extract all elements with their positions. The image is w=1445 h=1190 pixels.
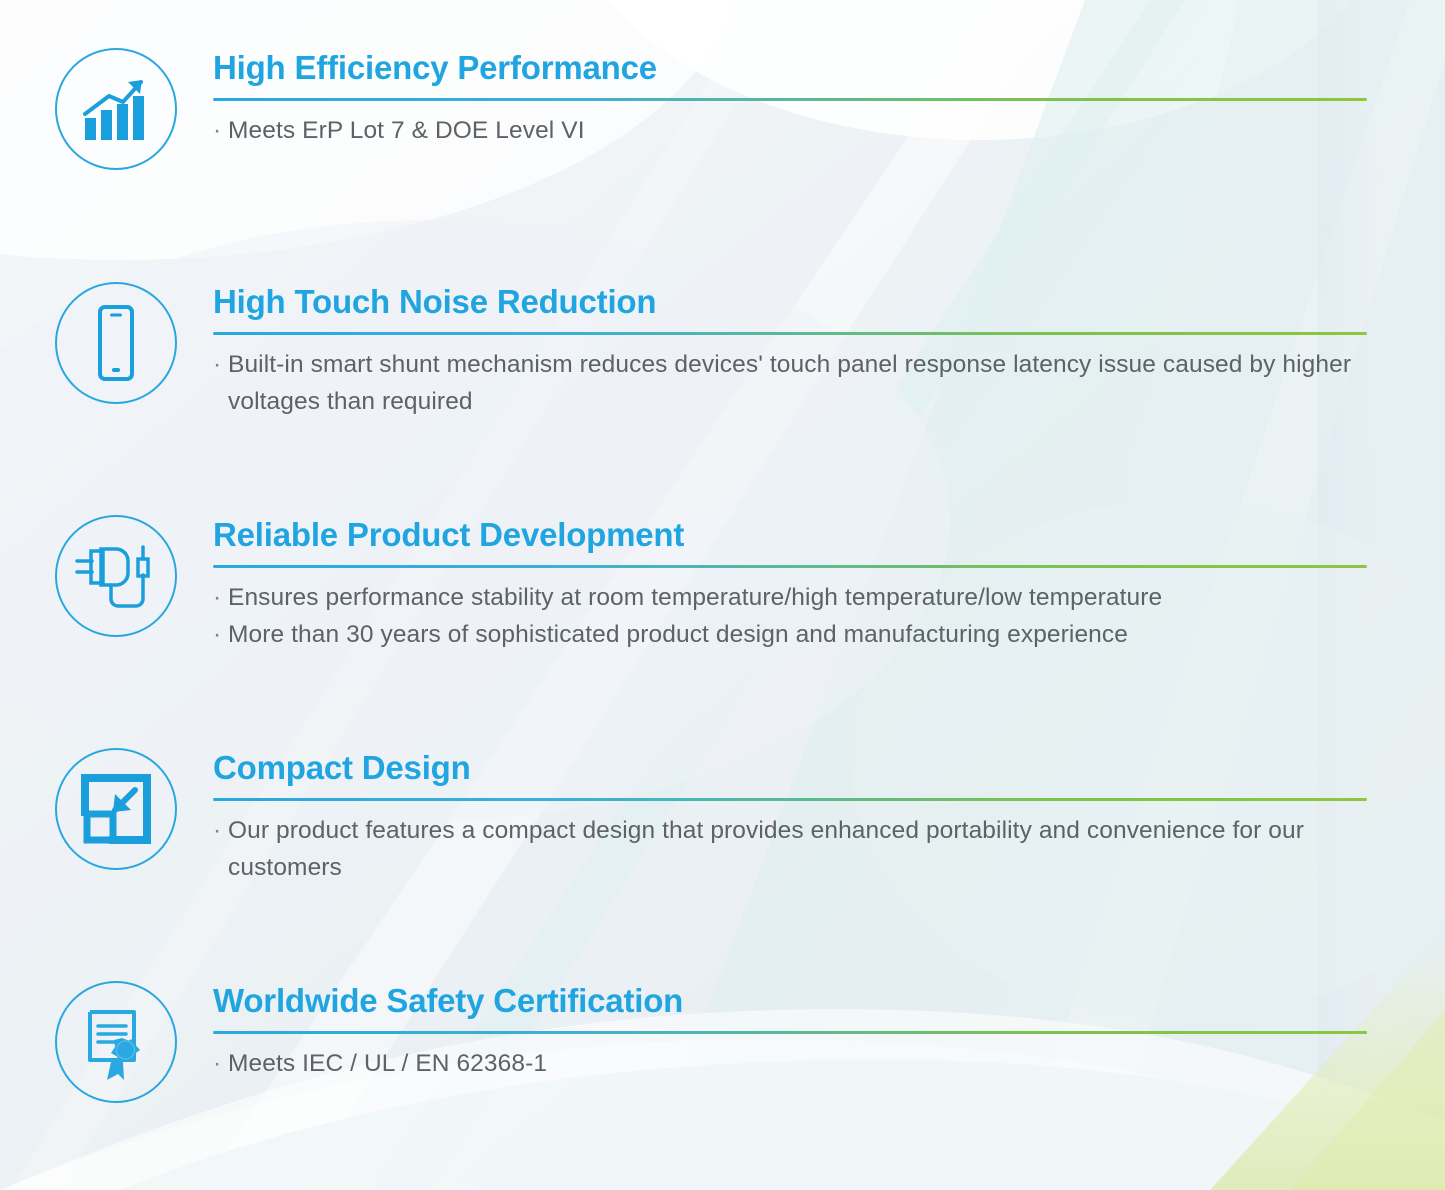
- bullet-text: Meets IEC / UL / EN 62368-1: [228, 1046, 1367, 1083]
- feature-bullets: · Meets ErP Lot 7 & DOE Level VI: [213, 111, 1367, 150]
- bullet-text: Built-in smart shunt mechanism reduces d…: [228, 347, 1367, 421]
- feature-item-high-touch-noise-reduction: High Touch Noise Reduction · Built-in sm…: [0, 280, 1445, 420]
- feature-bullets: · Our product features a compact design …: [213, 811, 1367, 887]
- feature-item-reliable-product-development: Reliable Product Development · Ensures p…: [0, 513, 1445, 653]
- bullet-item: · Meets ErP Lot 7 & DOE Level VI: [213, 113, 1367, 150]
- bullet-item: · More than 30 years of sophisticated pr…: [213, 617, 1367, 654]
- bullet-marker: ·: [213, 1046, 228, 1083]
- feature-title: High Efficiency Performance: [213, 50, 1367, 87]
- feature-icon-wrapper: [52, 46, 180, 170]
- power-adapter-icon: [55, 515, 177, 637]
- bullet-item: · Meets IEC / UL / EN 62368-1: [213, 1046, 1367, 1083]
- feature-bullets: · Built-in smart shunt mechanism reduces…: [213, 345, 1367, 421]
- feature-bullets: · Meets IEC / UL / EN 62368-1: [213, 1044, 1367, 1083]
- bullet-text: Ensures performance stability at room te…: [228, 580, 1367, 617]
- bullet-text: Meets ErP Lot 7 & DOE Level VI: [228, 113, 1367, 150]
- smartphone-icon: [55, 282, 177, 404]
- feature-list: High Efficiency Performance · Meets ErP …: [0, 0, 1445, 1190]
- feature-icon-wrapper: [52, 979, 180, 1103]
- feature-body: Reliable Product Development · Ensures p…: [180, 513, 1445, 653]
- bullet-marker: ·: [213, 617, 228, 654]
- bullet-item: · Our product features a compact design …: [213, 813, 1367, 887]
- feature-item-high-efficiency-performance: High Efficiency Performance · Meets ErP …: [0, 46, 1445, 170]
- feature-body: High Efficiency Performance · Meets ErP …: [180, 46, 1445, 150]
- bullet-marker: ·: [213, 113, 228, 150]
- feature-body: Compact Design · Our product features a …: [180, 746, 1445, 886]
- feature-bullets: · Ensures performance stability at room …: [213, 578, 1367, 654]
- feature-item-worldwide-safety-certification: Worldwide Safety Certification · Meets I…: [0, 979, 1445, 1103]
- feature-divider: [213, 565, 1367, 568]
- feature-divider: [213, 1031, 1367, 1034]
- feature-icon-wrapper: [52, 746, 180, 870]
- bullet-text: Our product features a compact design th…: [228, 813, 1367, 887]
- feature-title: Reliable Product Development: [213, 517, 1367, 554]
- bullet-marker: ·: [213, 580, 228, 617]
- feature-icon-wrapper: [52, 513, 180, 637]
- bullet-item: · Ensures performance stability at room …: [213, 580, 1367, 617]
- feature-body: High Touch Noise Reduction · Built-in sm…: [180, 280, 1445, 420]
- feature-title: High Touch Noise Reduction: [213, 284, 1367, 321]
- feature-body: Worldwide Safety Certification · Meets I…: [180, 979, 1445, 1083]
- feature-divider: [213, 332, 1367, 335]
- bullet-marker: ·: [213, 813, 228, 850]
- bullet-text: More than 30 years of sophisticated prod…: [228, 617, 1367, 654]
- feature-icon-wrapper: [52, 280, 180, 404]
- certificate-award-icon: [55, 981, 177, 1103]
- feature-divider: [213, 98, 1367, 101]
- bar-chart-growth-icon: [55, 48, 177, 170]
- feature-title: Worldwide Safety Certification: [213, 983, 1367, 1020]
- compact-resize-icon: [55, 748, 177, 870]
- bullet-marker: ·: [213, 347, 228, 384]
- feature-title: Compact Design: [213, 750, 1367, 787]
- feature-divider: [213, 798, 1367, 801]
- feature-item-compact-design: Compact Design · Our product features a …: [0, 746, 1445, 886]
- bullet-item: · Built-in smart shunt mechanism reduces…: [213, 347, 1367, 421]
